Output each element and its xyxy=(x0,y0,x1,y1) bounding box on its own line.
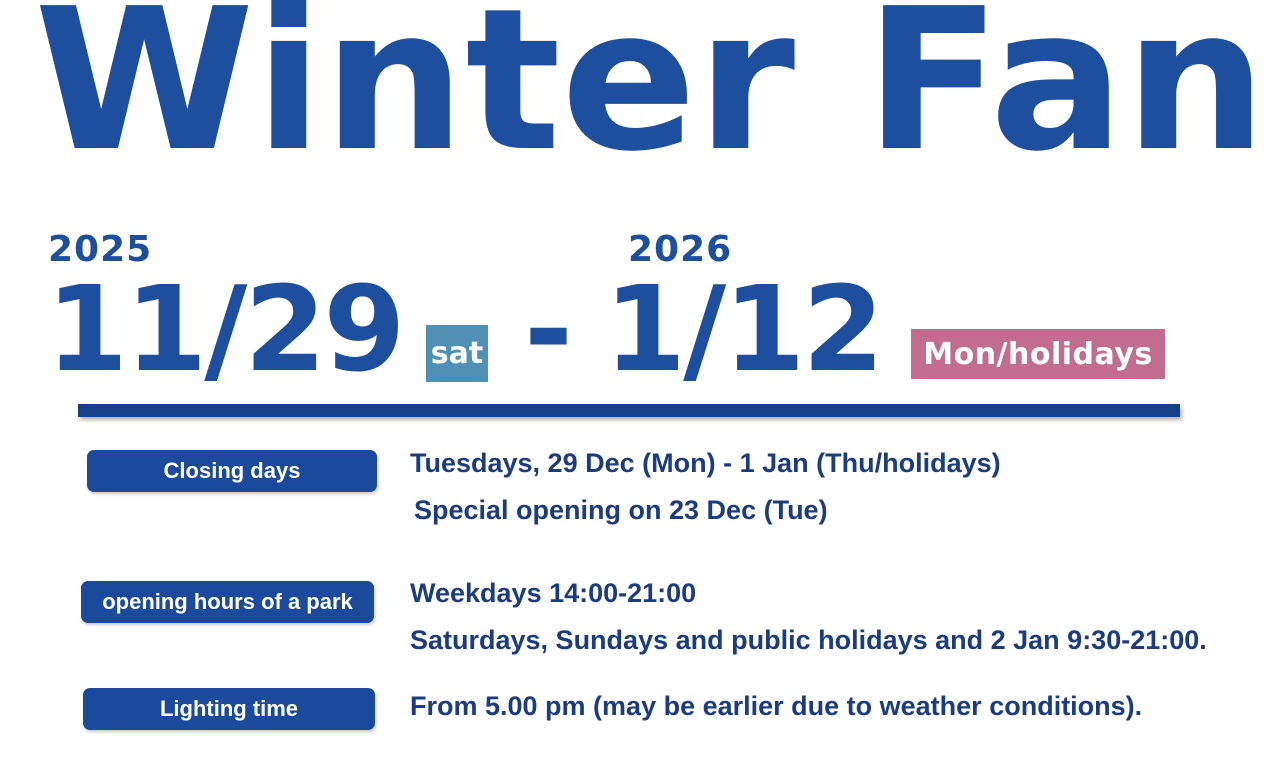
info-lines-opening-hours: Weekdays 14:00-21:00 Saturdays, Sundays … xyxy=(410,570,1240,664)
info-lines-lighting-time: From 5.00 pm (may be earlier due to weat… xyxy=(410,682,1240,730)
end-day-badge: Mon/holidays xyxy=(911,329,1165,379)
info-line: From 5.00 pm (may be earlier due to weat… xyxy=(410,682,1240,730)
info-lines-closing-days: Tuesdays, 29 Dec (Mon) - 1 Jan (Thu/holi… xyxy=(410,440,1240,534)
page-title: Winter Fantasy xyxy=(34,0,1264,186)
date-range-separator: - xyxy=(524,270,570,388)
info-tag-closing-days: Closing days xyxy=(87,450,377,492)
start-day-badge: sat xyxy=(426,325,488,382)
end-date: 1/12 xyxy=(604,270,881,388)
info-line: Weekdays 14:00-21:00 xyxy=(410,570,1240,617)
info-line: Special opening on 23 Dec (Tue) xyxy=(410,487,1240,534)
info-line: Tuesdays, 29 Dec (Mon) - 1 Jan (Thu/holi… xyxy=(410,440,1240,487)
info-tag-lighting-time: Lighting time xyxy=(83,688,375,730)
start-date: 11/29 xyxy=(46,270,403,388)
info-line: Saturdays, Sundays and public holidays a… xyxy=(410,617,1240,664)
section-divider xyxy=(78,404,1180,417)
info-tag-opening-hours: opening hours of a park xyxy=(81,581,374,623)
